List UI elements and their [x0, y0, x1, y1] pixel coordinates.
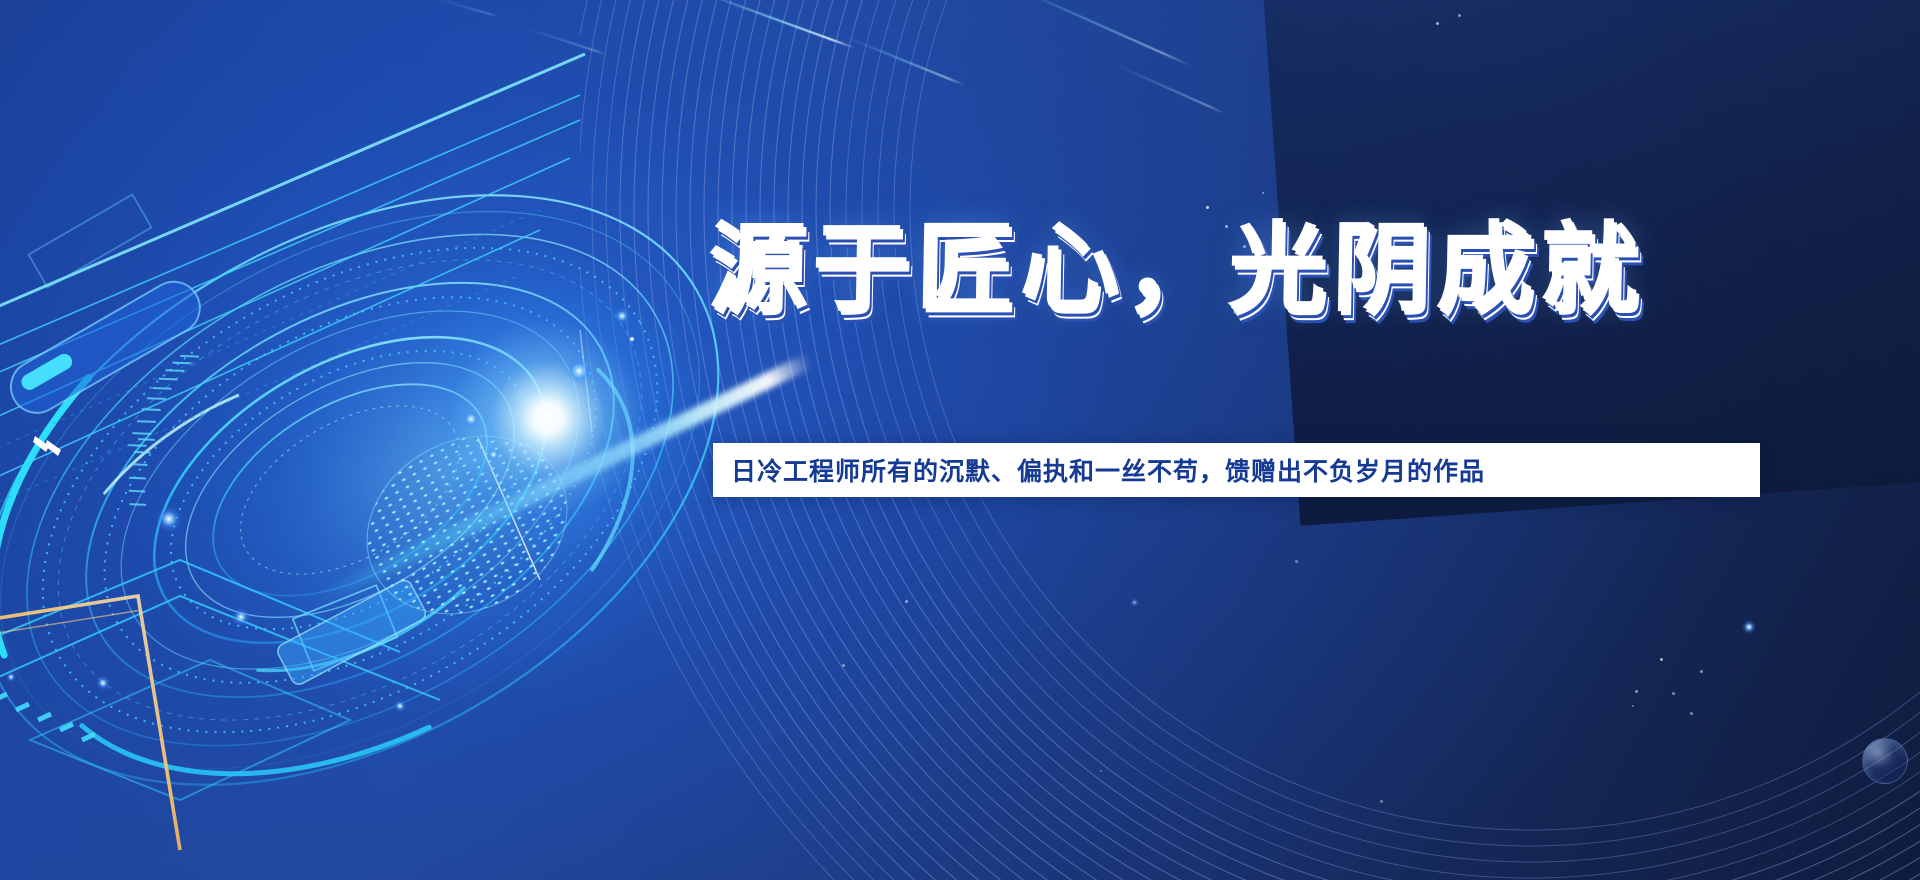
subtitle-bar: 日冷工程师所有的沉默、偏执和一丝不苟，馈赠出不负岁月的作品	[713, 443, 1760, 497]
page-title: 源于匠心，光阴成就	[707, 214, 1645, 324]
hero-banner: 源于匠心，光阴成就 日冷工程师所有的沉默、偏执和一丝不苟，馈赠出不负岁月的作品	[0, 0, 1920, 880]
double-chevron-arrow-icon	[33, 430, 73, 462]
translucent-bubble	[1862, 738, 1908, 784]
lens-flare-burst	[398, 268, 698, 568]
subtitle-text: 日冷工程师所有的沉默、偏执和一丝不苟，馈赠出不负岁月的作品	[731, 452, 1485, 488]
